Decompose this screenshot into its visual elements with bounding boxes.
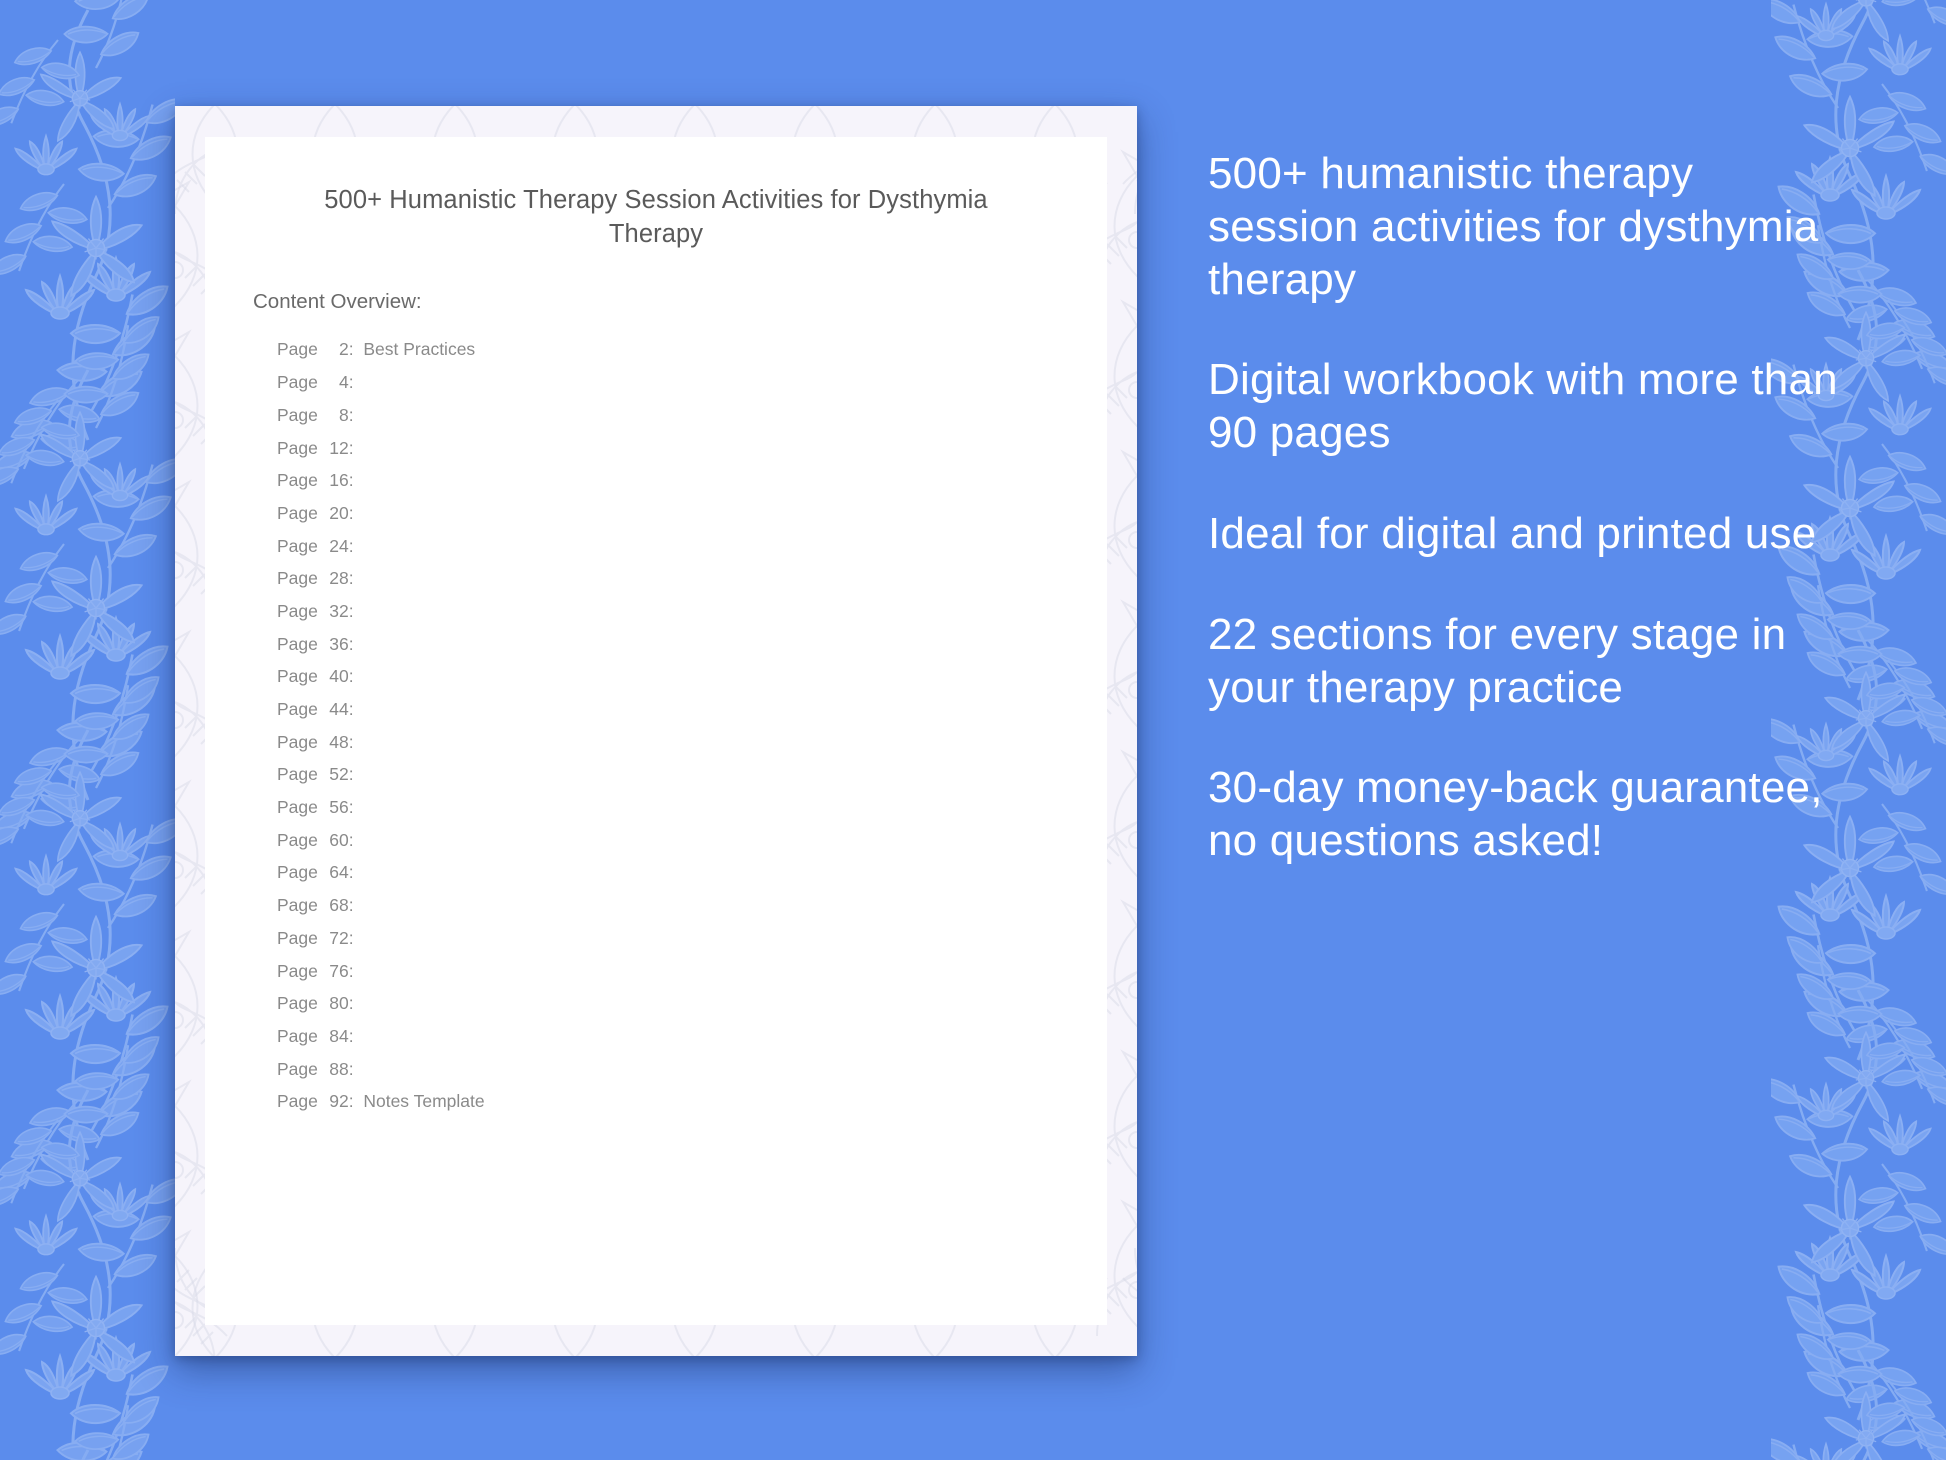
toc-page-number: 8 bbox=[323, 407, 349, 425]
toc-entry: Page 48: bbox=[277, 726, 1107, 759]
toc-page-label: Page bbox=[277, 666, 323, 686]
feature-list: 500+ humanistic therapy session activiti… bbox=[1208, 148, 1848, 868]
toc-page-label: Page bbox=[277, 961, 323, 981]
toc-page-label: Page bbox=[277, 503, 323, 523]
feature-item: 30-day money-back guarantee, no question… bbox=[1208, 762, 1848, 868]
toc-page-number: 2 bbox=[323, 341, 349, 359]
toc-entry: Page 24: bbox=[277, 530, 1107, 563]
toc-entry: Page 88: bbox=[277, 1053, 1107, 1086]
toc-page-label: Page bbox=[277, 928, 323, 948]
toc-page-label: Page bbox=[277, 830, 323, 850]
toc-page-label: Page bbox=[277, 339, 323, 359]
toc-separator: : bbox=[349, 372, 354, 392]
toc-page-label: Page bbox=[277, 764, 323, 784]
toc-entry-title: Notes Template bbox=[354, 1091, 485, 1111]
toc-page-number: 36 bbox=[323, 636, 349, 654]
toc-page-number: 48 bbox=[323, 734, 349, 752]
toc-page-number: 24 bbox=[323, 538, 349, 556]
toc-page-number: 72 bbox=[323, 930, 349, 948]
toc-entry: Page 44: bbox=[277, 693, 1107, 726]
content-overview-label: Content Overview: bbox=[205, 252, 1107, 314]
toc-entry: Page 64: bbox=[277, 857, 1107, 890]
toc-page-label: Page bbox=[277, 895, 323, 915]
toc-separator: : bbox=[349, 438, 354, 458]
toc-separator: : bbox=[349, 1059, 354, 1079]
toc-separator: : bbox=[349, 961, 354, 981]
toc-separator: : bbox=[349, 862, 354, 882]
feature-item: Digital workbook with more than 90 pages bbox=[1208, 354, 1848, 460]
toc-entry: Page 72: bbox=[277, 922, 1107, 955]
toc-page-label: Page bbox=[277, 470, 323, 490]
toc-entry: Page 56: bbox=[277, 791, 1107, 824]
toc-page-label: Page bbox=[277, 536, 323, 556]
left-floral-border bbox=[0, 0, 175, 1460]
toc-page-number: 4 bbox=[323, 374, 349, 392]
toc-page-number: 40 bbox=[323, 668, 349, 686]
toc-page-number: 28 bbox=[323, 570, 349, 588]
toc-separator: : bbox=[349, 764, 354, 784]
toc-page-number: 60 bbox=[323, 832, 349, 850]
toc-entry: Page 36: bbox=[277, 628, 1107, 661]
toc-page-number: 20 bbox=[323, 505, 349, 523]
toc-separator: : bbox=[349, 830, 354, 850]
toc-entry: Page 76: bbox=[277, 955, 1107, 988]
toc-page-number: 44 bbox=[323, 701, 349, 719]
document-mockup: 500+ Humanistic Therapy Session Activiti… bbox=[175, 106, 1137, 1356]
toc-separator: : bbox=[349, 634, 354, 654]
toc-separator: : bbox=[349, 568, 354, 588]
toc-separator: : bbox=[349, 699, 354, 719]
toc-page-label: Page bbox=[277, 1026, 323, 1046]
document-page: 500+ Humanistic Therapy Session Activiti… bbox=[205, 137, 1107, 1325]
toc-separator: : bbox=[349, 797, 354, 817]
toc-separator: : bbox=[349, 536, 354, 556]
toc-page-number: 52 bbox=[323, 766, 349, 784]
toc-page-label: Page bbox=[277, 568, 323, 588]
feature-item: 500+ humanistic therapy session activiti… bbox=[1208, 148, 1848, 306]
toc-entry: Page 20: bbox=[277, 497, 1107, 530]
toc-page-number: 92 bbox=[323, 1093, 349, 1111]
toc-separator: : bbox=[349, 1026, 354, 1046]
toc-entry: Page 60: bbox=[277, 824, 1107, 857]
toc-separator: : bbox=[349, 666, 354, 686]
toc-page-number: 64 bbox=[323, 864, 349, 882]
floral-vine-icon bbox=[0, 0, 175, 1460]
table-of-contents: Page 2: Best PracticesPage 4:Page 8:Page… bbox=[205, 314, 1107, 1119]
feature-item: 22 sections for every stage in your ther… bbox=[1208, 609, 1848, 715]
toc-page-label: Page bbox=[277, 993, 323, 1013]
toc-entry: Page 32: bbox=[277, 595, 1107, 628]
toc-page-number: 80 bbox=[323, 995, 349, 1013]
toc-page-number: 16 bbox=[323, 472, 349, 490]
toc-page-label: Page bbox=[277, 372, 323, 392]
toc-entry: Page 80: bbox=[277, 988, 1107, 1021]
toc-entry: Page 12: bbox=[277, 432, 1107, 465]
toc-entry-title: Best Practices bbox=[354, 339, 476, 359]
toc-entry: Page 40: bbox=[277, 661, 1107, 694]
toc-entry: Page 84: bbox=[277, 1020, 1107, 1053]
toc-entry: Page 4: bbox=[277, 367, 1107, 400]
toc-page-label: Page bbox=[277, 699, 323, 719]
toc-entry: Page 92: Notes Template bbox=[277, 1086, 1107, 1119]
toc-page-label: Page bbox=[277, 601, 323, 621]
toc-page-number: 84 bbox=[323, 1028, 349, 1046]
feature-item: Ideal for digital and printed use bbox=[1208, 508, 1848, 561]
toc-separator: : bbox=[349, 601, 354, 621]
toc-entry: Page 16: bbox=[277, 465, 1107, 498]
toc-page-label: Page bbox=[277, 634, 323, 654]
toc-page-number: 12 bbox=[323, 440, 349, 458]
document-frame: 500+ Humanistic Therapy Session Activiti… bbox=[175, 106, 1137, 1356]
toc-page-number: 32 bbox=[323, 603, 349, 621]
document-title: 500+ Humanistic Therapy Session Activiti… bbox=[205, 137, 1107, 252]
toc-separator: : bbox=[349, 503, 354, 523]
toc-separator: : bbox=[349, 732, 354, 752]
toc-entry: Page 68: bbox=[277, 890, 1107, 923]
toc-page-label: Page bbox=[277, 1091, 323, 1111]
toc-separator: : bbox=[349, 470, 354, 490]
toc-page-label: Page bbox=[277, 405, 323, 425]
toc-page-label: Page bbox=[277, 438, 323, 458]
toc-page-number: 76 bbox=[323, 963, 349, 981]
toc-page-label: Page bbox=[277, 1059, 323, 1079]
toc-page-label: Page bbox=[277, 862, 323, 882]
toc-separator: : bbox=[349, 928, 354, 948]
toc-separator: : bbox=[349, 895, 354, 915]
toc-entry: Page 28: bbox=[277, 563, 1107, 596]
toc-page-label: Page bbox=[277, 732, 323, 752]
toc-entry: Page 2: Best Practices bbox=[277, 334, 1107, 367]
toc-separator: : bbox=[349, 405, 354, 425]
toc-entry: Page 52: bbox=[277, 759, 1107, 792]
toc-page-number: 56 bbox=[323, 799, 349, 817]
toc-page-label: Page bbox=[277, 797, 323, 817]
toc-page-number: 68 bbox=[323, 897, 349, 915]
toc-separator: : bbox=[349, 993, 354, 1013]
toc-page-number: 88 bbox=[323, 1061, 349, 1079]
toc-entry: Page 8: bbox=[277, 399, 1107, 432]
